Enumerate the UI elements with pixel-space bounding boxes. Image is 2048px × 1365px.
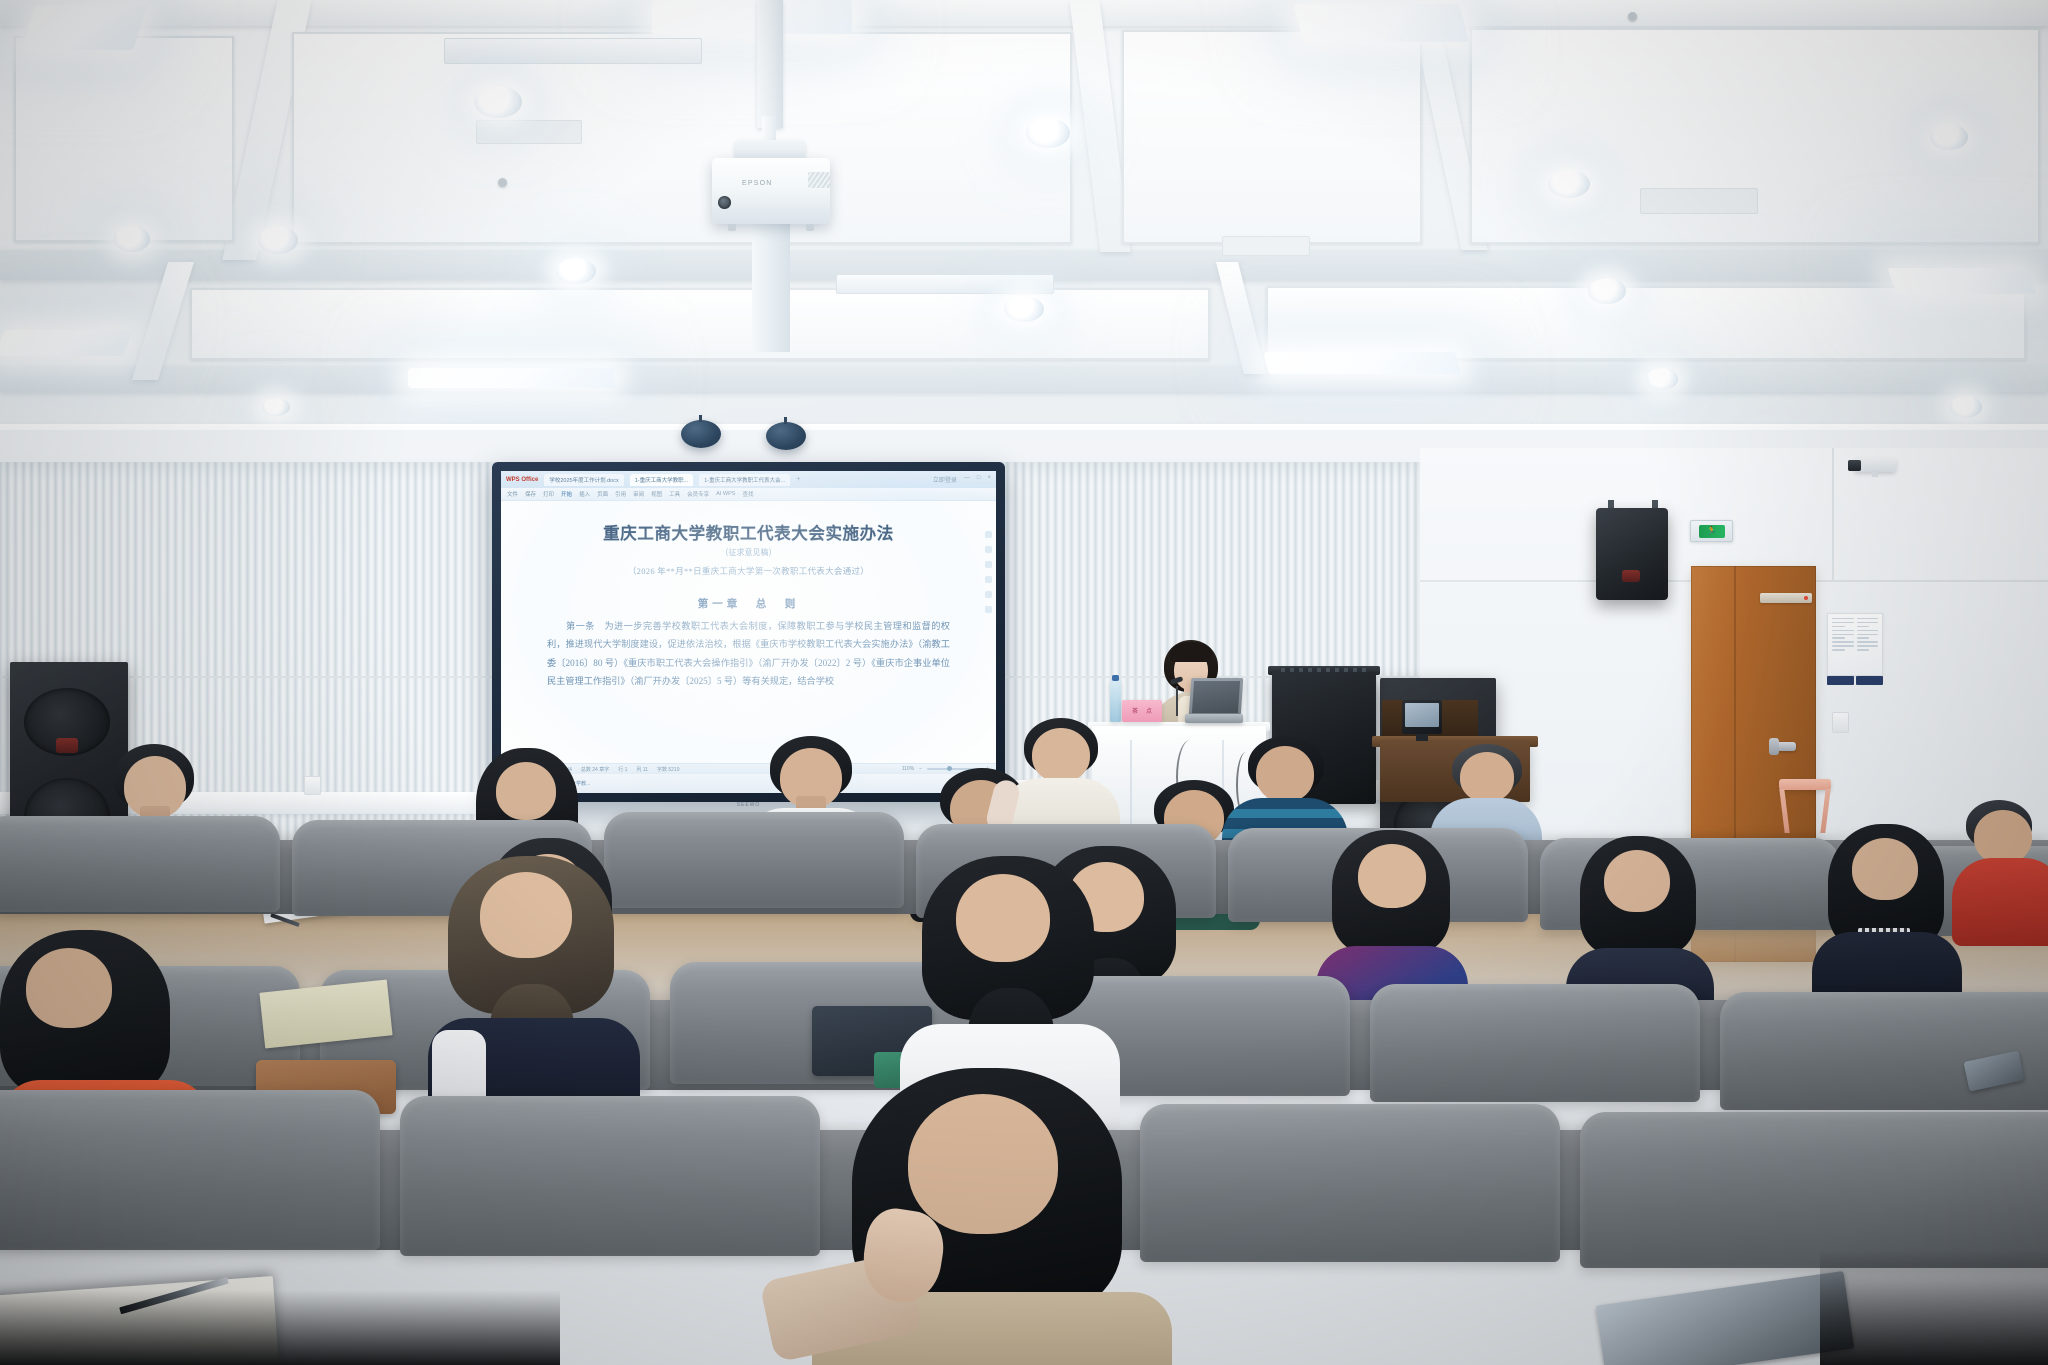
door-push-bar[interactable] [1760,593,1812,603]
notice-board-label-strip [1827,676,1883,685]
status-wordcount: 字数 5219 [657,766,680,773]
confidence-monitor [1402,700,1442,734]
document-body-text: 第一条 为进一步完善学校教职工代表大会制度，保障教职工参与学校民主管理和监督的权… [547,617,950,691]
door-status-led-icon [1804,596,1808,600]
exit-running-man-icon: 🏃 [1699,525,1725,538]
downlight [1950,396,1982,418]
downlight [1548,170,1590,198]
ribbon-tab-reference[interactable]: 引用 [615,490,626,498]
document-date-line: （2026 年**月**日重庆工商大学第一次教职工代表大会通过） [547,565,950,577]
projector-brand-label: EPSON [742,180,773,187]
document-subtitle: （征求意见稿） [547,547,950,558]
monitor-stand [1416,734,1428,741]
new-tab-button[interactable]: + [796,476,800,483]
close-icon[interactable]: × [987,475,991,484]
account-label[interactable]: 立即登录 [933,475,957,484]
pink-tissue-box: 茶点 [1122,700,1162,722]
ribbon-search-icon[interactable]: 查找 [742,490,753,498]
sidebar-tool-icon[interactable] [985,546,992,553]
audience-person [428,856,640,1116]
exit-sign: 🏃 [1690,520,1733,542]
foreground-shadow [0,1290,560,1365]
document-side-toolbar[interactable] [982,531,994,613]
ribbon-tab-tools[interactable]: 工具 [669,490,680,498]
water-bottle [1110,680,1121,722]
presenter-laptop-screen [1192,681,1240,713]
status-line: 行 1 [618,766,627,773]
wps-ribbon: 文件 保存 打印 开始 插入 页面 引用 审阅 视图 工具 会员专享 AI WP… [501,488,996,501]
ribbon-tab-review[interactable]: 审阅 [633,490,644,498]
quick-print-icon[interactable]: 打印 [543,490,554,498]
seat-pod[interactable] [0,816,280,912]
ceiling-panel-light [408,368,614,388]
document-title: 重庆工商大学教职工代表大会实施办法 [547,520,950,544]
conference-room-photo: EPSON WPS Office 学校2025年度工作计划.docx 1-重庆工… [0,0,2048,1365]
presenter-laptop-base [1185,714,1243,723]
projector-vent [808,172,830,188]
sidebar-tool-icon[interactable] [985,576,992,583]
maximize-icon[interactable]: □ [977,475,981,484]
wps-logo: WPS Office [506,477,538,483]
ceiling-speaker [681,420,721,448]
seat-pod[interactable] [0,1090,380,1250]
ribbon-tab-insert[interactable]: 插入 [579,490,590,498]
ceiling-panel-light [1293,4,1468,42]
ceiling: EPSON [0,0,2048,452]
ribbon-tab-member[interactable]: 会员专享 [687,490,709,498]
seat-pod[interactable] [400,1096,820,1256]
ribbon-tab-page[interactable]: 页面 [597,490,608,498]
downlight [1026,118,1070,148]
document-chapter-heading: 第一章 总 则 [547,596,950,611]
security-camera [1848,458,1896,477]
ribbon-tab-view[interactable]: 视图 [651,490,662,498]
downlight [262,398,290,416]
sidebar-tool-icon[interactable] [985,606,992,613]
wall-mounted-speaker [1596,508,1668,600]
speaker-badge [1622,570,1640,582]
seat-pod[interactable] [1140,1104,1560,1262]
wall-socket [304,776,321,795]
wps-title-bar: WPS Office 学校2025年度工作计划.docx 1-重庆工商大学教职.… [501,471,996,488]
status-column: 列 11 [636,766,648,773]
seat-pod[interactable] [1370,984,1700,1102]
audience-person [1812,824,1962,1004]
door-handle[interactable] [1772,742,1796,751]
ceiling-speaker [766,422,806,450]
wall-switch[interactable] [1832,712,1849,733]
projector-foot [728,224,736,231]
minimize-icon[interactable]: — [964,475,970,484]
projector [712,158,830,224]
audience-person [1952,800,2048,950]
quick-file[interactable]: 文件 [507,490,518,498]
seat-pod[interactable] [1720,992,2048,1110]
doc-tab-3[interactable]: 1-重庆工商大学教职工代表大会... [699,474,790,486]
ribbon-tab-ai[interactable]: AI WPS [716,491,735,497]
sidebar-tool-icon[interactable] [985,531,992,538]
projector-pole [757,0,783,128]
sidebar-tool-icon[interactable] [985,561,992,568]
ceiling-panel-light [652,0,852,34]
doc-tab-2[interactable]: 1-重庆工商大学教职... [630,474,693,486]
camera-lens-icon [1848,460,1861,471]
ribbon-tab-home[interactable]: 开始 [561,490,572,498]
seat-pod[interactable] [1580,1112,2048,1268]
audience-person [1316,830,1468,1006]
ceiling-panel-light [1887,268,2036,294]
quick-save-icon[interactable]: 保存 [525,490,536,498]
downlight [1646,368,1678,390]
ceiling-panel-light [21,6,147,50]
downlight [556,258,596,284]
projector-mount-base [752,222,790,352]
document-page[interactable]: 重庆工商大学教职工代表大会实施办法 （征求意见稿） （2026 年**月**日重… [501,501,996,773]
wall-notice-board [1827,613,1883,676]
audience-person-foreground [812,1068,1172,1365]
presenter-hair-front [1170,642,1212,662]
smartphone-foreground[interactable] [1596,1271,1854,1365]
projector-foot [806,224,814,231]
microphone-stand [1176,686,1178,716]
downlight [1588,278,1626,304]
downlight [474,86,522,118]
audience-person [1566,836,1714,1006]
foreground-shadow [1820,1250,2048,1365]
downlight [1004,296,1044,322]
doc-tab-1[interactable]: 学校2025年度工作计划.docx [544,474,623,486]
downlight [258,226,298,254]
window-controls[interactable]: 立即登录 — □ × [933,475,991,484]
sidebar-tool-icon[interactable] [985,591,992,598]
ceiling-panel-light [1263,352,1460,374]
projector-lens-icon [718,196,731,209]
seat-pod[interactable] [604,812,904,908]
downlight [114,226,150,252]
downlight [1930,124,1968,150]
ceiling-panel-light [0,330,133,356]
